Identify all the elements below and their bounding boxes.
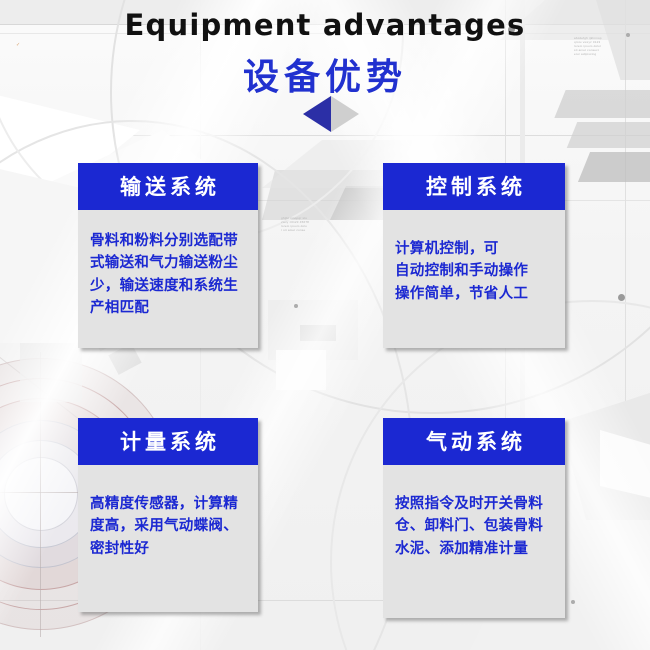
bg-microtext-2: ghijkl mnopqr stu vwxy z0123 45678 lorem… [281, 216, 351, 232]
card-title-control-system: 控制系统 [383, 163, 565, 210]
card-title-pneumatic-system: 气动系统 [383, 418, 565, 465]
bg-polygon-18 [300, 325, 336, 341]
card-body-control-system: 计算机控制，可 自动控制和手动操作 操作简单，节省人工 [383, 210, 565, 315]
bg-dot-5 [294, 304, 298, 308]
bg-polygon-19 [276, 350, 326, 390]
card-body-conveying-system: 骨料和粉料分别选配带式输送和气力输送粉尘少，输送速度和系统生产相匹配 [78, 210, 258, 330]
bg-radar-ring-6 [4, 457, 78, 531]
page-title-english: Equipment advantages [0, 8, 650, 42]
card-title-conveying-system: 输送系统 [78, 163, 258, 210]
slide-canvas: abcdefgh ijklmnop qrstu vwxyz 0123 lorem… [0, 0, 650, 650]
bg-dot-2 [618, 294, 625, 301]
title-arrow-marker [0, 96, 650, 132]
right-triangle-icon [331, 96, 359, 132]
card-title-metering-system: 计量系统 [78, 418, 258, 465]
bg-dot-4 [571, 600, 575, 604]
card-body-pneumatic-system: 按照指令及时开关骨料仓、卸料门、包装骨料 水泥、添加精准计量 [383, 465, 565, 570]
page-title-chinese: 设备优势 [0, 48, 650, 100]
card-body-metering-system: 高精度传感器，计算精度高，采用气动蝶阀、密封性好 [78, 465, 258, 570]
card-conveying-system[interactable]: 输送系统 骨料和粉料分别选配带式输送和气力输送粉尘少，输送速度和系统生产相匹配 [78, 163, 258, 348]
left-triangle-icon [303, 96, 331, 132]
card-control-system[interactable]: 控制系统 计算机控制，可 自动控制和手动操作 操作简单，节省人工 [383, 163, 565, 348]
card-pneumatic-system[interactable]: 气动系统 按照指令及时开关骨料仓、卸料门、包装骨料 水泥、添加精准计量 [383, 418, 565, 618]
card-metering-system[interactable]: 计量系统 高精度传感器，计算精度高，采用气动蝶阀、密封性好 [78, 418, 258, 612]
